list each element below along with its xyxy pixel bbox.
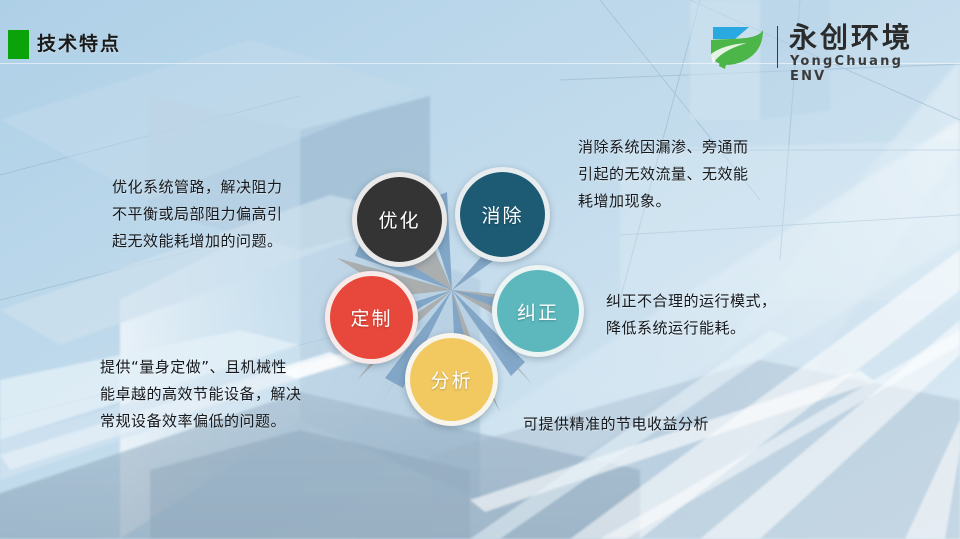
logo-name-cn: 永创环境 bbox=[789, 22, 913, 54]
header-accent-square bbox=[8, 30, 29, 59]
logo-divider bbox=[777, 26, 778, 68]
diagram-node-label: 分析 bbox=[430, 366, 472, 393]
diagram-node-xiaochu[interactable]: 消除 bbox=[455, 167, 550, 262]
caption-youhua: 优化系统管路，解决阻力 不平衡或局部阻力偏高引 起无效能耗增加的问题。 bbox=[112, 174, 352, 255]
diagram-node-label: 定制 bbox=[350, 304, 392, 331]
diagram-node-jiuzheng[interactable]: 纠正 bbox=[492, 265, 584, 357]
diagram-node-fenxi[interactable]: 分析 bbox=[405, 333, 498, 426]
caption-jiuzheng: 纠正不合理的运行模式， 降低系统运行能耗。 bbox=[606, 288, 811, 342]
caption-xiaochu: 消除系统因漏渗、旁通而 引起的无效流量、无效能 耗增加现象。 bbox=[578, 134, 793, 215]
leaf-swoosh-logo-icon bbox=[709, 24, 767, 70]
diagram-node-label: 消除 bbox=[481, 201, 523, 228]
company-logo: 永创环境 YongChuang ENV bbox=[709, 22, 944, 72]
logo-name-en: YongChuang ENV bbox=[790, 54, 944, 84]
caption-dingzhi: 提供“量身定做”、且机械性 能卓越的高效节能设备，解决 常规设备效率偏低的问题。 bbox=[100, 354, 352, 435]
diagram-node-label: 纠正 bbox=[517, 298, 559, 325]
diagram-node-label: 优化 bbox=[378, 206, 420, 233]
diagram-node-youhua[interactable]: 优化 bbox=[352, 172, 447, 267]
diagram-node-dingzhi[interactable]: 定制 bbox=[325, 271, 418, 364]
slide-canvas: 技术特点 永创环境 YongChuang ENV bbox=[0, 0, 960, 539]
caption-fenxi: 可提供精准的节电收益分析 bbox=[523, 411, 793, 438]
page-title: 技术特点 bbox=[37, 29, 121, 56]
